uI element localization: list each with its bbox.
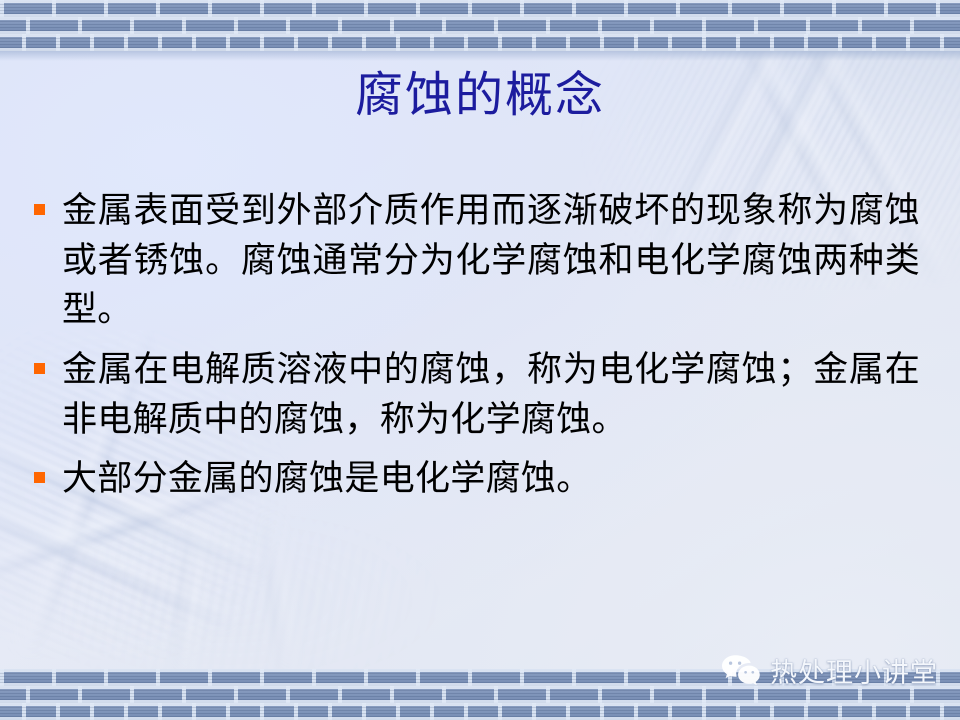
brick-row-lower (0, 703, 960, 720)
bullet-text: 大部分金属的腐蚀是电化学腐蚀。 (62, 454, 920, 504)
bullet-list: 金属表面受到外部介质作用而逐渐破坏的现象称为腐蚀或者锈蚀。腐蚀通常分为化学腐蚀和… (34, 186, 920, 514)
top-brick-border (0, 0, 960, 61)
architecture-watermark-bottom-left (60, 492, 480, 672)
brick-border-fade (0, 51, 960, 61)
page-title: 腐蚀的概念 (0, 68, 960, 123)
bullet-text: 金属在电解质溶液中的腐蚀，称为电化学腐蚀；金属在非电解质中的腐蚀，称为化学腐蚀。 (62, 345, 920, 444)
bullet-text: 金属表面受到外部介质作用而逐渐破坏的现象称为腐蚀或者锈蚀。腐蚀通常分为化学腐蚀和… (62, 186, 920, 335)
brick-row-upper (0, 0, 960, 17)
list-item: 金属表面受到外部介质作用而逐渐破坏的现象称为腐蚀或者锈蚀。腐蚀通常分为化学腐蚀和… (34, 186, 920, 335)
footer-label: 热处理小讲堂 (770, 651, 938, 690)
footer-watermark: 热处理小讲堂 (721, 651, 938, 690)
list-item: 金属在电解质溶液中的腐蚀，称为电化学腐蚀；金属在非电解质中的腐蚀，称为化学腐蚀。 (34, 345, 920, 444)
square-bullet-icon (34, 472, 45, 483)
square-bullet-icon (34, 204, 45, 215)
square-bullet-icon (34, 363, 45, 374)
brick-row-middle (0, 17, 960, 34)
brick-row-lower (0, 34, 960, 51)
wechat-icon (721, 654, 761, 687)
presentation-slide: 腐蚀的概念 金属表面受到外部介质作用而逐渐破坏的现象称为腐蚀或者锈蚀。腐蚀通常分… (0, 0, 960, 720)
list-item: 大部分金属的腐蚀是电化学腐蚀。 (34, 454, 920, 504)
